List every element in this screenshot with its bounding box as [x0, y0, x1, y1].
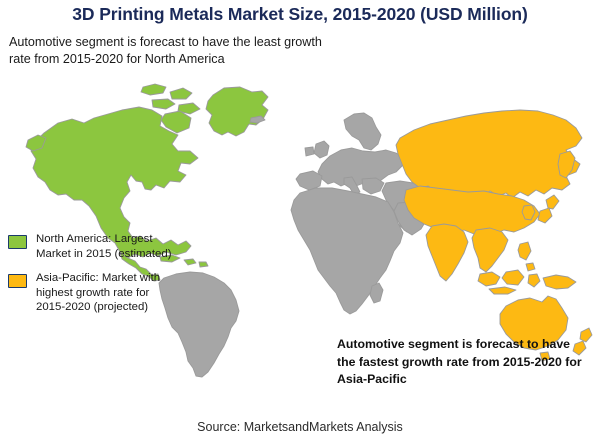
- map-region-java: [489, 287, 516, 294]
- map-region-greenland: [206, 87, 268, 136]
- map-region-africa: [291, 188, 403, 314]
- page-title: 3D Printing Metals Market Size, 2015-202…: [0, 4, 600, 25]
- map-region-philippines-2: [526, 263, 535, 271]
- map-region-philippines: [518, 242, 531, 260]
- map-region-arctic-islands-3: [152, 99, 175, 109]
- map-region-arctic-islands-2: [170, 88, 192, 99]
- map-region-europe: [318, 148, 404, 186]
- legend-swatch-asia-pacific: [8, 274, 27, 288]
- map-region-southeast-asia: [472, 228, 508, 272]
- annotation-asia-pacific: Automotive segment is forecast to have t…: [337, 336, 587, 389]
- annotation-north-america: Automotive segment is forecast to have t…: [9, 34, 339, 68]
- map-region-russia: [396, 110, 582, 198]
- map-region-caribbean-2: [184, 259, 196, 265]
- map-region-kamchatka: [558, 151, 575, 178]
- legend-label-asia-pacific: Asia-Pacific: Market with highest growth…: [36, 271, 178, 315]
- map-region-sulawesi: [528, 274, 540, 287]
- source-note: Source: MarketsandMarkets Analysis: [0, 420, 600, 434]
- legend-item-north-america[interactable]: North America: Largest Market in 2015 (e…: [8, 232, 178, 261]
- map-region-british-isles: [314, 141, 329, 158]
- map-region-borneo: [502, 270, 524, 285]
- map-region-madagascar: [370, 283, 383, 303]
- map-region-ireland: [305, 147, 314, 156]
- map-region-caribbean-3: [199, 262, 208, 267]
- map-region-india: [426, 224, 468, 281]
- map-region-new-guinea: [543, 275, 576, 289]
- legend-swatch-north-america: [8, 235, 27, 249]
- map-region-arctic-islands: [141, 84, 166, 95]
- chart-container: 3D Printing Metals Market Size, 2015-202…: [0, 0, 600, 445]
- map-region-central-asia: [404, 186, 540, 234]
- world-map: [0, 78, 600, 378]
- map-region-indonesia: [478, 272, 500, 286]
- map-region-iberia: [296, 171, 322, 190]
- map-region-scandinavia: [344, 113, 381, 150]
- legend-item-asia-pacific[interactable]: Asia-Pacific: Market with highest growth…: [8, 271, 178, 315]
- map-region-japan: [546, 195, 559, 209]
- legend: North America: Largest Market in 2015 (e…: [8, 232, 178, 325]
- map-region-japan-2: [538, 208, 552, 223]
- legend-label-north-america: North America: Largest Market in 2015 (e…: [36, 232, 178, 261]
